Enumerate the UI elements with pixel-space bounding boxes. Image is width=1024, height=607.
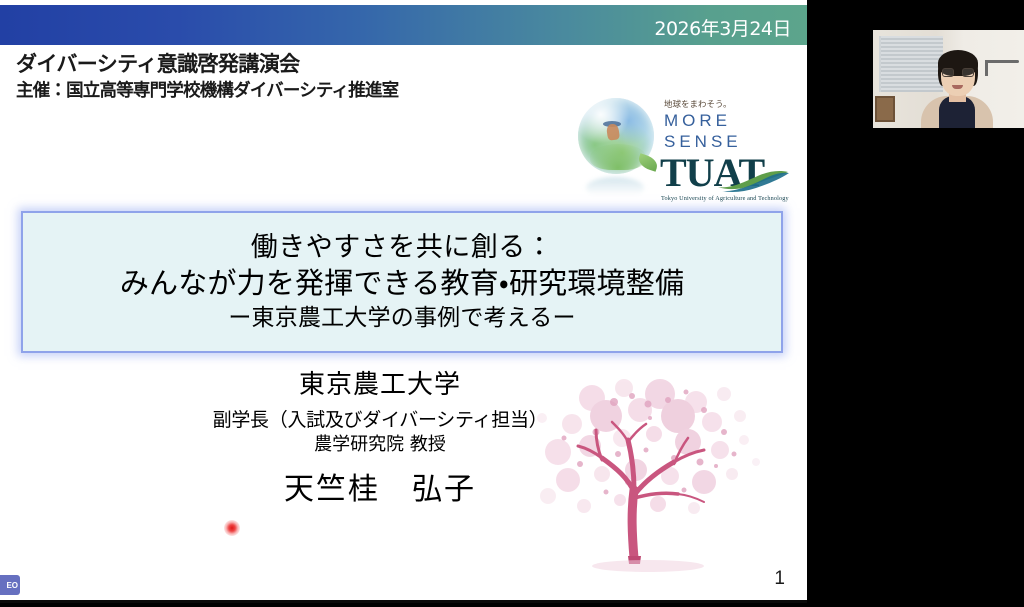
globe-icon [576,98,656,202]
event-title: ダイバーシティ意識啓発講演会 [16,52,576,76]
event-organizer: 主催：国立高等専門学校機構ダイバーシティ推進室 [16,80,576,103]
slide-page-number: 1 [774,568,785,590]
slide-date: 2026年3月24日 [654,14,791,41]
slide-title-line-3: ー東京農工大学の事例で考えるー [228,303,575,334]
wall-rail-hook [985,60,988,76]
presenter-role-secondary: 農学研究院 教授 [0,433,760,456]
presenter-name: 天竺桂 弘子 [0,472,760,508]
slide-title-line-1: 働きやすさを共に創る： [251,230,554,266]
presenter-role-primary: 副学長（入試及びダイバーシティ担当） [0,408,760,432]
globe-reflection [586,177,644,199]
screen-share-view: 2026年3月24日 ダイバーシティ意識啓発講演会 主催：国立高等専門学校機構ダ… [0,0,1024,607]
presentation-slide[interactable]: 2026年3月24日 ダイバーシティ意識啓発講演会 主催：国立高等専門学校機構ダ… [0,0,807,603]
tuat-logo: 地球をまわそう。 MORE SENSE TUAT Tokyo Universit… [576,98,801,208]
slide-bottom-edge [0,600,807,603]
presenter-block: 東京農工大学 副学長（入試及びダイバーシティ担当） 農学研究院 教授 天竺桂 弘… [0,370,760,508]
leaf-icon [636,153,659,172]
slide-title-line-2: みんなが力を発揮できる教育・研究環境整備 [120,265,684,303]
slide-header-text: ダイバーシティ意識啓発講演会 主催：国立高等専門学校機構ダイバーシティ推進室 [16,52,576,103]
eyeglasses-icon [942,68,974,77]
presenter-affiliation: 東京農工大学 [0,370,760,401]
tuat-full-name: Tokyo University of Agriculture and Tech… [661,195,789,202]
window-blind [879,36,943,92]
globe-hill-shape [590,144,646,170]
wall-picture-frame [875,96,895,122]
slide-header-band: 2026年3月24日 [0,5,807,45]
more-sense-lockup: 地球をまわそう。 MORE SENSE [664,98,804,153]
slide-title-box: 働きやすさを共に創る： みんなが力を発揮できる教育・研究環境整備 ー東京農工大学… [21,211,783,353]
laser-pointer-dot [224,520,240,536]
logo-word-more: MORE [664,110,804,131]
wall-rail [985,60,1019,63]
swoosh-icon [716,167,790,193]
tuat-wordmark: TUAT Tokyo University of Agriculture and… [660,153,802,203]
presenter-webcam-tile[interactable] [873,30,1024,128]
corner-badge[interactable]: EO [0,575,20,595]
logo-tagline: 地球をまわそう。 [664,98,804,110]
